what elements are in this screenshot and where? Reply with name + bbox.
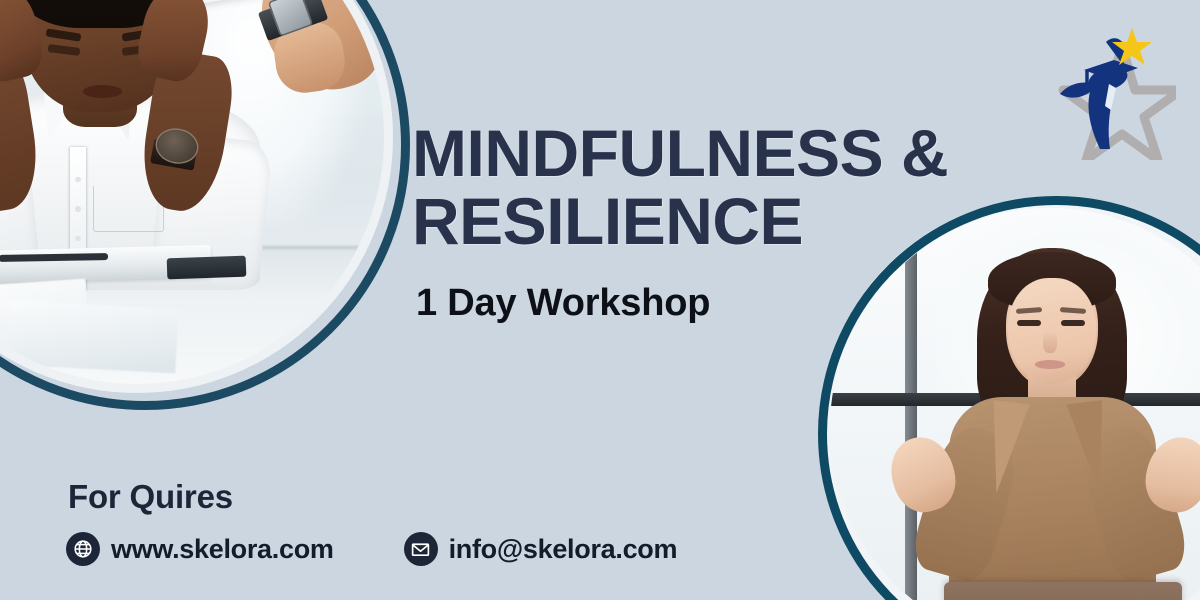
event-title-line1: MINDFULNESS & [412, 116, 948, 190]
contact-item-website[interactable]: www.skelora.com [66, 532, 334, 566]
event-subtitle: 1 Day Workshop [416, 282, 1032, 325]
contact-heading: For Quires [68, 478, 677, 516]
contact-block: For Quires www.skelora.com [66, 478, 677, 566]
envelope-icon [404, 532, 438, 566]
skelora-logo [1040, 18, 1176, 160]
stressed-man-photo [0, 0, 410, 410]
event-title-line2: RESILIENCE [412, 184, 803, 258]
globe-icon [66, 532, 100, 566]
title-block: MINDFULNESS &RESILIENCE 1 Day Workshop [412, 120, 1032, 325]
contact-item-email[interactable]: info@skelora.com [404, 532, 678, 566]
website-text: www.skelora.com [111, 534, 334, 565]
event-title: MINDFULNESS &RESILIENCE [412, 120, 1032, 256]
tassel-bead-icon [1084, 85, 1090, 91]
contact-rows: www.skelora.com info@skelora.com [66, 532, 677, 566]
email-text: info@skelora.com [449, 534, 678, 565]
event-banner: MINDFULNESS &RESILIENCE 1 Day Workshop F… [0, 0, 1200, 600]
